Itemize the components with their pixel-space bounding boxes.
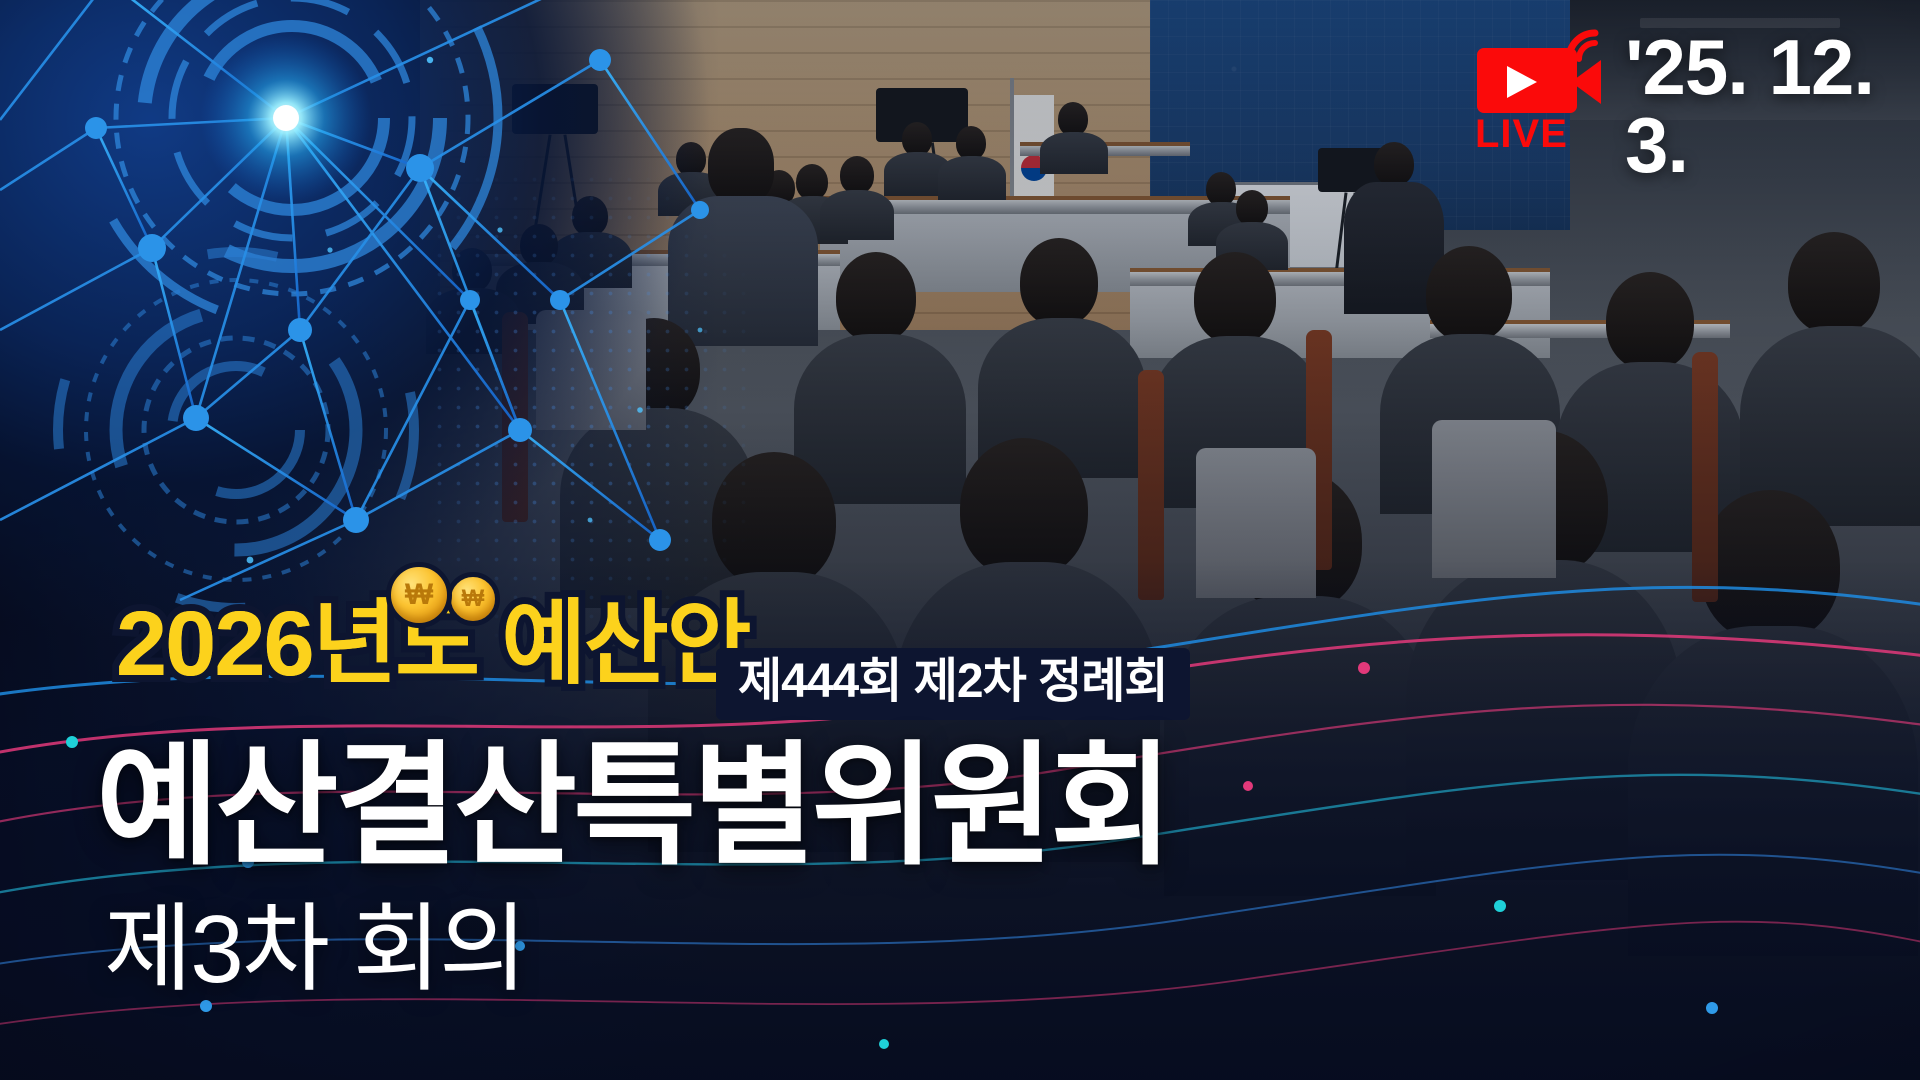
session-badge: 제444회 제2차 정례회	[716, 648, 1190, 720]
won-coin-large: ₩	[386, 562, 452, 628]
won-coin-small: ₩	[446, 572, 500, 626]
meeting-subtitle: 제3차 회의	[104, 902, 525, 998]
committee-title: 예산결산특별위원회	[96, 740, 1170, 874]
broadcast-title-card: 예산결산특별위원회	[0, 0, 1920, 1080]
